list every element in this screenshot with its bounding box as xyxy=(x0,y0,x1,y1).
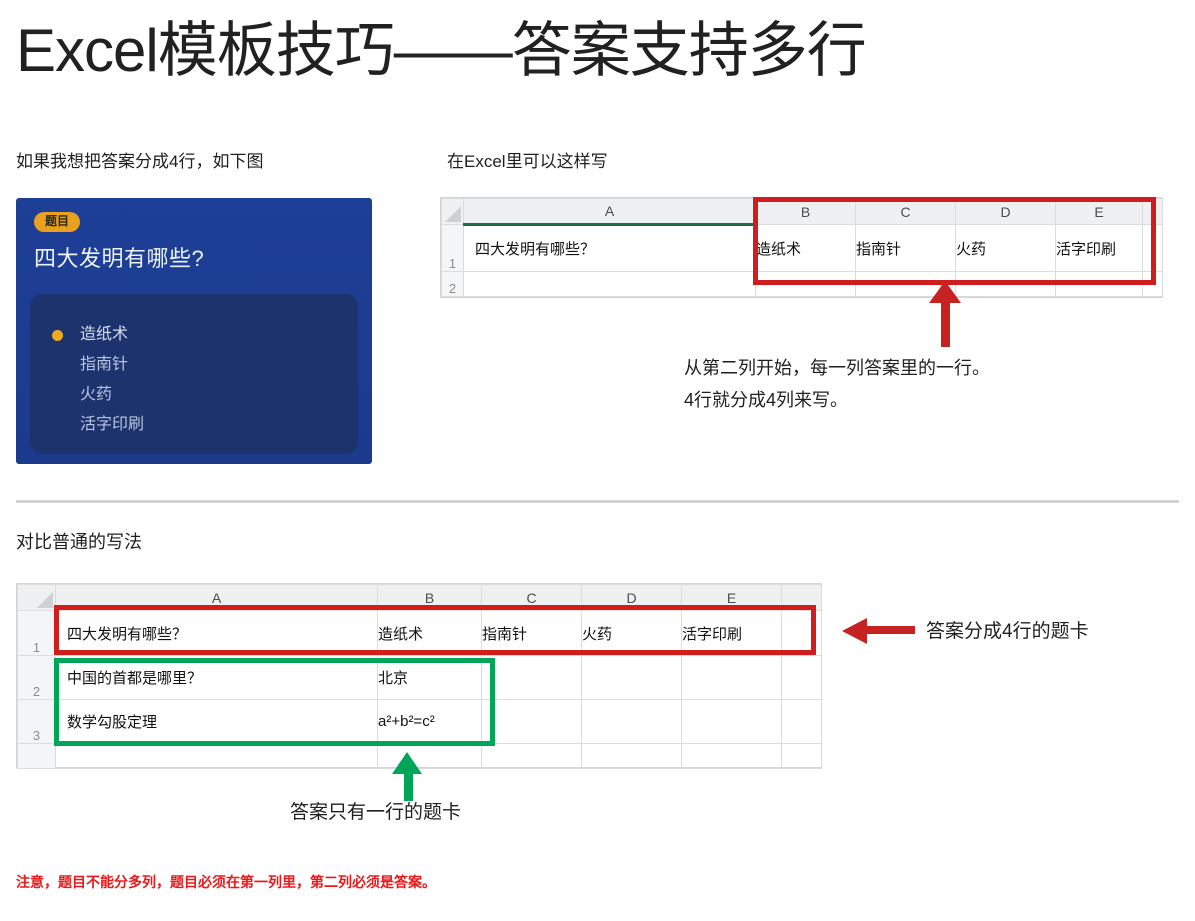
cell-a3[interactable]: 数学勾股定理 xyxy=(56,700,378,744)
row-header-1[interactable]: 1 xyxy=(442,225,464,271)
top-spreadsheet[interactable]: A B C D E 1 四大发明有哪些？ 造纸术 指南针 火药 活字印刷 2 xyxy=(440,197,1163,298)
cell-e1[interactable]: 活字印刷 xyxy=(682,611,782,656)
bullet-dot-icon xyxy=(52,330,63,341)
cell-d4[interactable] xyxy=(582,744,682,769)
select-all-triangle-icon xyxy=(37,592,53,608)
caption-compare: 对比普通的写法 xyxy=(16,528,142,554)
cell-b2[interactable] xyxy=(756,271,856,296)
answer-option-2[interactable]: 指南针 xyxy=(52,350,358,380)
row-header-1[interactable]: 1 xyxy=(18,611,56,656)
warning-note: 注意，题目不能分多列，题目必须在第一列里，第二列必须是答案。 xyxy=(16,872,436,892)
cell-f4[interactable] xyxy=(782,744,822,769)
caption-right: 在Excel里可以这样写 xyxy=(447,147,608,172)
table-row[interactable]: 2 xyxy=(442,271,1163,296)
cell-b3[interactable]: a²+b²=c² xyxy=(378,700,482,744)
cell-d1[interactable]: 火药 xyxy=(956,225,1056,271)
cell-b1[interactable]: 造纸术 xyxy=(756,225,856,271)
green-up-arrow-icon xyxy=(392,752,422,774)
column-header-f[interactable] xyxy=(1143,199,1163,225)
answer-option-label: 火药 xyxy=(80,386,112,403)
answer-option-label: 指南针 xyxy=(80,356,128,373)
cell-d3[interactable] xyxy=(582,700,682,744)
answer-option-3[interactable]: 火药 xyxy=(52,380,358,410)
select-all-corner[interactable] xyxy=(18,585,56,611)
cell-d2[interactable] xyxy=(582,656,682,700)
answer-option-1[interactable]: 造纸术 xyxy=(52,320,358,350)
cell-a2[interactable] xyxy=(464,271,756,296)
question-title: 四大发明有哪些? xyxy=(34,241,354,273)
row-header-4[interactable] xyxy=(18,744,56,769)
top-annotation-text: 从第二列开始，每一列答案里的一行。 4行就分成4列来写。 xyxy=(684,352,990,416)
red-up-arrow-icon xyxy=(929,281,961,303)
cell-c1[interactable]: 指南针 xyxy=(856,225,956,271)
cell-c3[interactable] xyxy=(482,700,582,744)
column-header-c[interactable]: C xyxy=(482,585,582,611)
cell-e1[interactable]: 活字印刷 xyxy=(1056,225,1143,271)
bottom-spreadsheet[interactable]: A B C D E 1 四大发明有哪些？ 造纸术 指南针 火药 活字印刷 2 中… xyxy=(16,583,822,768)
table-row[interactable]: 2 中国的首都是哪里？ 北京 xyxy=(18,656,822,700)
cell-f1[interactable] xyxy=(1143,225,1163,271)
column-header-a[interactable]: A xyxy=(464,199,756,225)
row-header-2[interactable]: 2 xyxy=(442,271,464,296)
row-header-3[interactable]: 3 xyxy=(18,700,56,744)
table-row[interactable]: 1 四大发明有哪些？ 造纸术 指南针 火药 活字印刷 xyxy=(18,611,822,656)
column-header-d[interactable]: D xyxy=(956,199,1056,225)
question-card: 题目 四大发明有哪些? 造纸术 指南针 火药 活字印刷 xyxy=(16,198,372,464)
answer-panel: 造纸术 指南针 火药 活字印刷 xyxy=(30,294,358,454)
answer-option-4[interactable]: 活字印刷 xyxy=(52,410,358,440)
cell-a1[interactable]: 四大发明有哪些？ xyxy=(56,611,378,656)
red-arrow-shaft xyxy=(941,298,950,347)
column-header-b[interactable]: B xyxy=(756,199,856,225)
cell-c4[interactable] xyxy=(482,744,582,769)
cell-b1[interactable]: 造纸术 xyxy=(378,611,482,656)
column-header-a[interactable]: A xyxy=(56,585,378,611)
table-row[interactable]: 1 四大发明有哪些？ 造纸术 指南针 火药 活字印刷 xyxy=(442,225,1163,271)
red-left-arrow-icon xyxy=(842,618,867,644)
column-header-f[interactable] xyxy=(782,585,822,611)
cell-f3[interactable] xyxy=(782,700,822,744)
column-header-e[interactable]: E xyxy=(682,585,782,611)
cell-b2[interactable]: 北京 xyxy=(378,656,482,700)
cell-d2[interactable] xyxy=(956,271,1056,296)
cell-c2[interactable] xyxy=(482,656,582,700)
cell-a2[interactable]: 中国的首都是哪里？ xyxy=(56,656,378,700)
cell-f2[interactable] xyxy=(1143,271,1163,296)
cell-d1[interactable]: 火药 xyxy=(582,611,682,656)
cell-e4[interactable] xyxy=(682,744,782,769)
cell-a1[interactable]: 四大发明有哪些？ xyxy=(464,225,756,271)
cell-e2[interactable] xyxy=(1056,271,1143,296)
right-annotation-text: 答案分成4行的题卡 xyxy=(926,616,1089,648)
cell-e2[interactable] xyxy=(682,656,782,700)
select-all-corner[interactable] xyxy=(442,199,464,225)
select-all-triangle-icon xyxy=(445,206,461,222)
green-annotation-text: 答案只有一行的题卡 xyxy=(290,797,461,829)
cell-a4[interactable] xyxy=(56,744,378,769)
cell-e3[interactable] xyxy=(682,700,782,744)
cell-f2[interactable] xyxy=(782,656,822,700)
question-badge: 题目 xyxy=(34,212,80,232)
table-row[interactable]: 3 数学勾股定理 a²+b²=c² xyxy=(18,700,822,744)
column-header-c[interactable]: C xyxy=(856,199,956,225)
red-left-arrow-shaft xyxy=(866,626,915,634)
section-divider xyxy=(16,500,1179,503)
column-header-row: A B C D E xyxy=(18,585,822,611)
column-header-row: A B C D E xyxy=(442,199,1163,225)
page-title: Excel模板技巧——答案支持多行 xyxy=(16,18,866,84)
cell-f1[interactable] xyxy=(782,611,822,656)
answer-option-label: 活字印刷 xyxy=(80,416,144,433)
cell-c1[interactable]: 指南针 xyxy=(482,611,582,656)
column-header-d[interactable]: D xyxy=(582,585,682,611)
column-header-b[interactable]: B xyxy=(378,585,482,611)
column-header-e[interactable]: E xyxy=(1056,199,1143,225)
caption-left: 如果我想把答案分成4行，如下图 xyxy=(16,147,263,172)
answer-option-label: 造纸术 xyxy=(80,326,128,343)
row-header-2[interactable]: 2 xyxy=(18,656,56,700)
